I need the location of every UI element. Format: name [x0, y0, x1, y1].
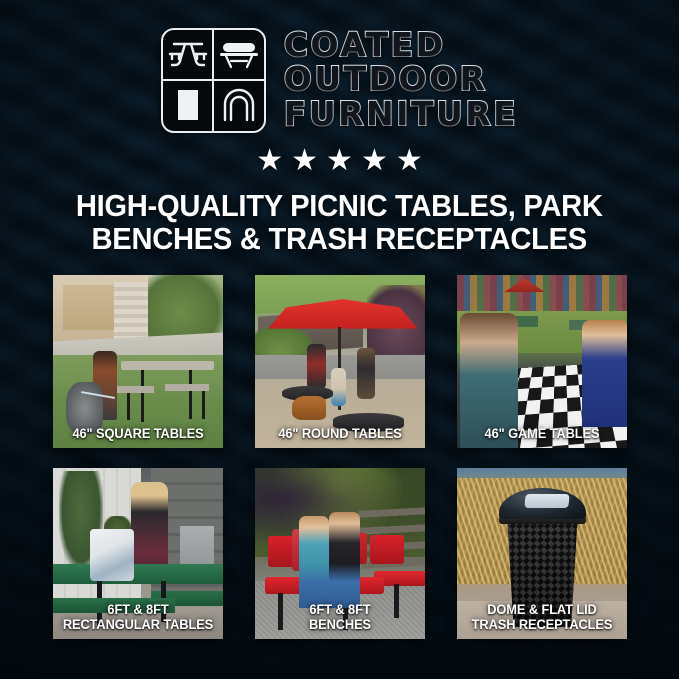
- tile-caption-line-1: 46" SQUARE TABLES: [61, 427, 215, 441]
- star-rating: ★ ★ ★ ★ ★: [256, 146, 423, 176]
- product-tile-rectangular-tables[interactable]: 6FT & 8FT RECTANGULAR TABLES: [53, 468, 223, 639]
- logo-wordmark: COATED OUTDOOR FURNITURE: [284, 28, 518, 133]
- headline-line-2: BENCHES & TRASH RECEPTACLES: [76, 222, 603, 255]
- product-banner: COATED OUTDOOR FURNITURE ★ ★ ★ ★ ★ HIGH-…: [0, 0, 679, 679]
- tile-caption: DOME & FLAT LID TRASH RECEPTACLES: [465, 603, 619, 632]
- product-tile-round-tables[interactable]: 46" ROUND TABLES: [255, 275, 425, 448]
- star-icon: ★: [326, 146, 353, 176]
- logo-line-2: OUTDOOR: [284, 62, 518, 96]
- tile-caption-line-2: BENCHES: [263, 618, 417, 632]
- product-photo: [457, 275, 627, 448]
- star-icon: ★: [291, 146, 318, 176]
- tile-caption: 46" SQUARE TABLES: [61, 427, 215, 441]
- tile-caption-line-1: 46" GAME TABLES: [465, 427, 619, 441]
- product-tile-benches[interactable]: 6FT & 8FT BENCHES: [255, 468, 425, 639]
- park-bench-icon: [213, 30, 264, 81]
- product-grid: 46" SQUARE TABLES 46" ROUND TABLES: [53, 275, 627, 639]
- trash-receptacle-icon: [163, 80, 214, 131]
- product-tile-game-tables[interactable]: 46" GAME TABLES: [457, 275, 627, 448]
- logo-mark: [161, 28, 266, 133]
- star-icon: ★: [361, 146, 388, 176]
- product-tile-square-tables[interactable]: 46" SQUARE TABLES: [53, 275, 223, 448]
- tile-caption-line-1: 46" ROUND TABLES: [263, 427, 417, 441]
- headline: HIGH-QUALITY PICNIC TABLES, PARK BENCHES…: [76, 189, 603, 256]
- tile-caption: 6FT & 8FT RECTANGULAR TABLES: [61, 603, 215, 632]
- tile-caption: 46" ROUND TABLES: [263, 427, 417, 441]
- tile-caption: 6FT & 8FT BENCHES: [263, 603, 417, 632]
- headline-line-1: HIGH-QUALITY PICNIC TABLES, PARK: [76, 189, 603, 222]
- tile-caption: 46" GAME TABLES: [465, 427, 619, 441]
- logo-line-1: COATED: [284, 28, 518, 62]
- logo-line-3: FURNITURE: [284, 97, 518, 131]
- picnic-table-icon: [163, 30, 214, 81]
- product-tile-trash-receptacles[interactable]: DOME & FLAT LID TRASH RECEPTACLES: [457, 468, 627, 639]
- bike-rack-icon: [213, 80, 264, 131]
- banner-content: COATED OUTDOOR FURNITURE ★ ★ ★ ★ ★ HIGH-…: [0, 0, 679, 679]
- product-photo: [255, 275, 425, 448]
- brand-logo: COATED OUTDOOR FURNITURE: [161, 26, 518, 134]
- tile-caption-line-2: RECTANGULAR TABLES: [61, 618, 215, 632]
- star-icon: ★: [396, 146, 423, 176]
- tile-caption-line-2: TRASH RECEPTACLES: [465, 618, 619, 632]
- star-icon: ★: [256, 146, 283, 176]
- product-photo: [53, 275, 223, 448]
